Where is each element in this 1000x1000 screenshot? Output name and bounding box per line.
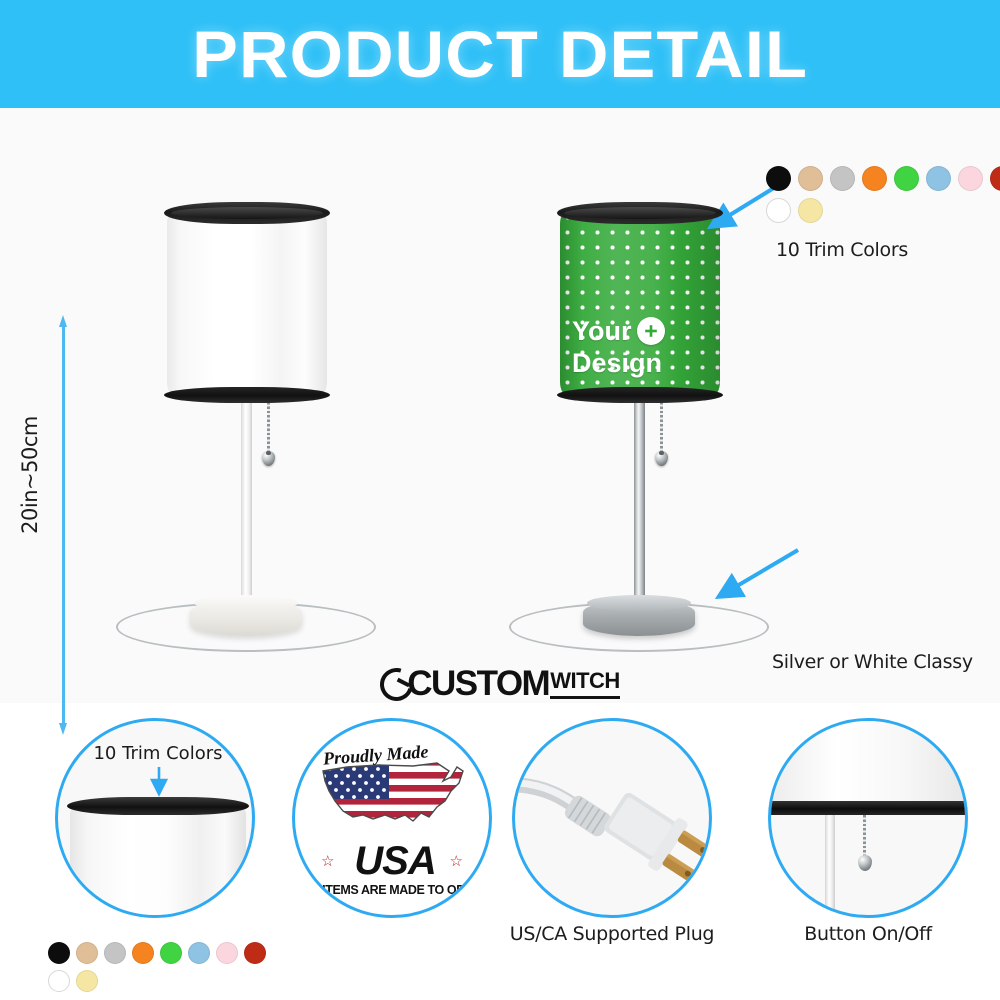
trim-colors-title: 10 Trim Colors [776,239,908,261]
pull-chain-bead-icon [262,451,275,466]
feature-caption-plug: US/CA Supported Plug [477,923,747,945]
lamp-shade-white [167,202,327,402]
feature-power-plug: US/CA Supported Plug [512,718,712,918]
lamp-white-blank [167,202,327,662]
feature-circle-outline: 10 Trim Colors [55,718,255,918]
pull-chain-bead-icon[interactable] [858,855,872,871]
logo-text-witch: WITCH [550,668,620,694]
design-text-line1: Your [572,316,632,347]
pull-chain-switch[interactable] [657,402,668,466]
shade-trim-top [557,202,723,224]
swatch-orange[interactable] [862,166,887,191]
brand-logo: CUSTOM WITCH [0,660,1000,708]
logo-underline [550,696,620,699]
feature-trim-colors-closeup: 10 Trim Colors [55,718,255,918]
swatch-dark-red[interactable] [990,166,1000,191]
base-finish-pointer-arrow-icon [700,538,810,608]
page-header-bar: PRODUCT DETAIL [0,0,1000,108]
swatch-orange[interactable] [132,942,154,964]
swatch-pink[interactable] [216,942,238,964]
trim-closeup-down-arrow-icon [148,765,170,801]
height-dimension-label: 20in~50cm [18,400,42,550]
shade-surface [167,210,327,396]
feature-made-in-usa: Proudly Made in the [292,718,492,918]
shade-trim-top [164,202,330,224]
feature-inner-label: 10 Trim Colors [58,743,255,764]
design-text-line2: Design [572,348,662,379]
swatch-white[interactable] [48,970,70,992]
feature-circle-outline [768,718,968,918]
feature-circle-outline [512,718,712,918]
swatch-white[interactable] [766,198,791,223]
swatch-gray[interactable] [104,942,126,964]
swatch-dark-red[interactable] [244,942,266,964]
lamp-green-custom: Your Design [560,202,720,662]
shade-closeup-surface [768,718,968,803]
shade-closeup-trim [768,801,968,815]
lamp-stem-closeup [825,815,835,918]
lamp-base-white [190,600,302,636]
pull-chain-cord [267,402,270,452]
swatch-green[interactable] [160,942,182,964]
pull-chain-bead-icon [655,451,668,466]
swatch-gray[interactable] [830,166,855,191]
pull-chain-cord [660,402,663,452]
swatch-yellow[interactable] [76,970,98,992]
pull-chain-switch[interactable] [264,402,275,466]
swatch-yellow[interactable] [798,198,823,223]
shade-closeup-trim [67,797,249,815]
feature-pull-chain-switch: Button On/Off [768,718,968,918]
usa-badge-graphic: Proudly Made in the [295,721,489,915]
badge-subtext: ALL ITEMS ARE MADE TO ORDER! [295,883,492,897]
trim-color-swatch-row-top [766,166,1000,223]
usa-map-flag-icon [317,757,473,843]
swatch-tan[interactable] [76,942,98,964]
lamp-stem-white [241,398,252,614]
swatch-black[interactable] [48,942,70,964]
logo-text-custom: CUSTOM [407,664,549,704]
lamp-stem-silver [634,398,645,614]
shade-trim-bottom [164,387,330,403]
feature-circle-outline: Proudly Made in the [292,718,492,918]
us-power-plug-icon [515,721,712,918]
trim-color-swatch-row-bottom [48,942,278,992]
shade-closeup-surface [70,805,246,918]
lamp-base-silver [583,600,695,636]
swatch-tan[interactable] [798,166,823,191]
shade-trim-bottom [557,387,723,403]
swatch-pink[interactable] [958,166,983,191]
pull-chain-cord[interactable] [863,815,866,857]
feature-caption-switch: Button On/Off [733,923,1000,945]
swatch-light-blue[interactable] [926,166,951,191]
swatch-green[interactable] [894,166,919,191]
plus-icon [637,317,665,345]
star-right-icon: ☆ [450,852,463,870]
swatch-light-blue[interactable] [188,942,210,964]
swatch-black[interactable] [766,166,791,191]
page-title: PRODUCT DETAIL [192,16,808,92]
